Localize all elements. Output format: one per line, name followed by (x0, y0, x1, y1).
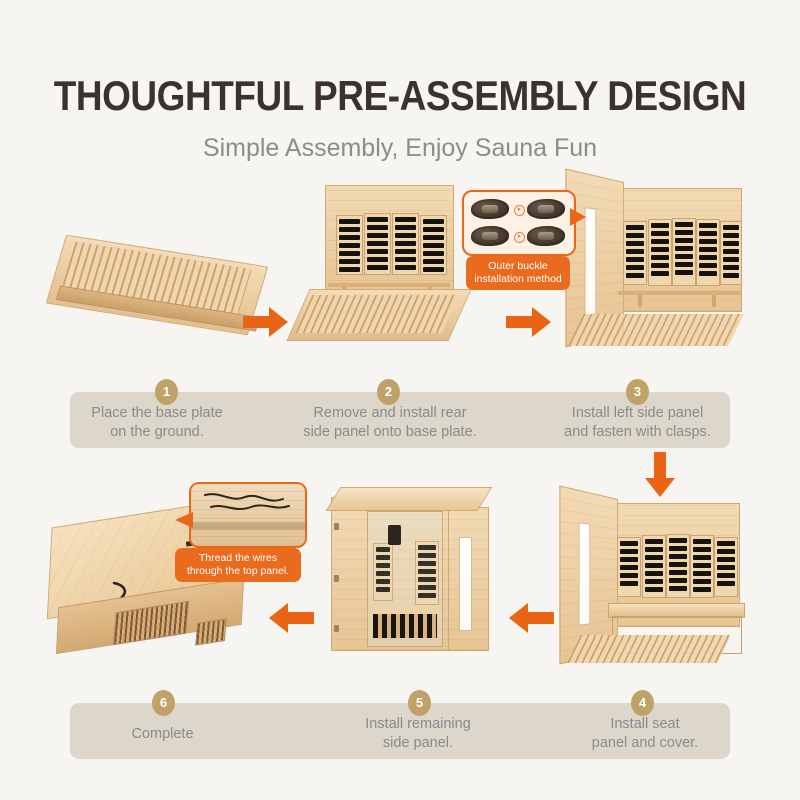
assembly-infographic: THOUGHTFUL PRE-ASSEMBLY DESIGN Simple As… (0, 0, 800, 800)
light-strip (585, 207, 596, 316)
step-badge-5: 5 (408, 690, 431, 716)
illustration-step-4 (556, 495, 746, 665)
buckle-photo (471, 199, 509, 219)
control-panel (388, 525, 401, 545)
heater-panel (420, 215, 447, 275)
underside-grille (195, 618, 227, 645)
page-subtitle: Simple Assembly, Enjoy Sauna Fun (0, 134, 800, 163)
buckle-label-line1: Outer buckle (488, 260, 548, 272)
heater-panel (696, 219, 720, 286)
heater-panel (617, 537, 641, 597)
rail-bracket (638, 295, 642, 307)
arrow-step4-to-step5 (508, 602, 554, 634)
heater-panel (392, 213, 419, 275)
buckle-label-line2: installation method (474, 273, 562, 285)
illustration-step-2 (300, 185, 475, 350)
caption-step-2-line2: side panel onto base plate. (303, 424, 476, 440)
step-badge-2: 2 (377, 379, 400, 405)
page-title: THOUGHTFUL PRE-ASSEMBLY DESIGN (48, 72, 752, 120)
arrow-left-icon (508, 602, 554, 634)
caption-step-5-line2: side panel. (383, 735, 453, 751)
caption-step-1: Place the base plate on the ground. (72, 404, 242, 442)
buckle-callout-label: Outer buckle installation method (466, 256, 570, 290)
caption-step-5-line1: Install remaining (365, 716, 471, 732)
step-badge-1: 1 (155, 379, 178, 405)
wires-callout-label: Thread the wires through the top panel. (175, 548, 301, 582)
seat-panel (371, 607, 439, 614)
callout-tail (175, 512, 193, 528)
light-strip (459, 537, 472, 631)
heater-panel (642, 535, 666, 598)
heater-panel (336, 215, 363, 275)
arrow-step3-to-step4 (644, 452, 676, 498)
step-badge-4: 4 (631, 690, 654, 716)
caption-step-3-line2: and fasten with clasps. (564, 424, 711, 440)
buckle-photo (527, 199, 565, 219)
heater-panel (690, 535, 714, 598)
hinge-icon (334, 575, 339, 582)
caption-step-3-line1: Install left side panel (572, 405, 703, 421)
buckle-photo-box: ▸ ▸ (462, 190, 576, 256)
caption-step-2: Remove and install rear side panel onto … (290, 404, 490, 442)
callout-tail (570, 208, 586, 226)
caption-step-2-line1: Remove and install rear (313, 405, 466, 421)
callout-thread-wires: Thread the wires through the top panel. (175, 482, 303, 582)
caption-step-6-line1: Complete (131, 726, 193, 742)
heater-panel (666, 534, 690, 598)
top-cap (326, 487, 493, 511)
arrow-left-icon (268, 602, 314, 634)
wires-label-line1: Thread the wires (199, 552, 277, 564)
caption-step-6: Complete (80, 725, 245, 744)
caption-step-4-line2: panel and cover. (592, 735, 698, 751)
callout-outer-buckle: ▸ ▸ Outer buckle installation method (462, 190, 580, 295)
photo-shadow-band (191, 522, 305, 530)
hinge-icon (334, 625, 339, 632)
arrow-down-icon (644, 452, 676, 498)
step-badge-6: 6 (152, 690, 175, 716)
illustration-step-5 (325, 485, 495, 660)
arrow-step5-to-step6 (268, 602, 314, 634)
caption-step-5: Install remaining side panel. (332, 715, 504, 753)
caption-step-4: Install seat panel and cover. (560, 715, 730, 753)
arrow-right-icon (243, 306, 289, 338)
hinge-icon (334, 523, 339, 530)
heater-panel (623, 221, 647, 285)
arrow-right-icon (506, 306, 552, 338)
illustration-step-3 (560, 178, 745, 350)
base-plate-slats (568, 314, 744, 346)
caption-step-3: Install left side panel and fasten with … (545, 404, 730, 442)
heater-panel (720, 221, 742, 285)
caption-step-4-line1: Install seat (610, 716, 679, 732)
illustration-step-1 (50, 235, 265, 350)
mini-arrow-icon: ▸ (514, 205, 525, 216)
heater-panel (364, 213, 391, 275)
light-strip (579, 522, 590, 625)
heater-panel (672, 218, 696, 286)
base-plate-slats (567, 635, 731, 663)
caption-step-1-line1: Place the base plate (91, 405, 222, 421)
arrow-step1-to-step2 (243, 306, 289, 338)
base-plate-slats (296, 295, 459, 333)
heater-panel (373, 543, 393, 601)
bench-rail (618, 291, 742, 295)
wire-icon (201, 489, 295, 517)
buckle-photo (471, 226, 509, 246)
arrow-step2-to-step3 (506, 306, 552, 338)
wires-photo-box (189, 482, 307, 548)
caption-step-1-line2: on the ground. (110, 424, 204, 440)
mini-arrow-icon: ▸ (514, 232, 525, 243)
step-badge-3: 3 (626, 379, 649, 405)
seat-cover-heater (373, 614, 437, 638)
rail-bracket (712, 295, 716, 307)
buckle-photo (527, 226, 565, 246)
heater-panel (648, 219, 672, 286)
heater-panel (415, 541, 439, 605)
heater-panel (714, 537, 738, 597)
wires-label-line2: through the top panel. (187, 565, 289, 577)
